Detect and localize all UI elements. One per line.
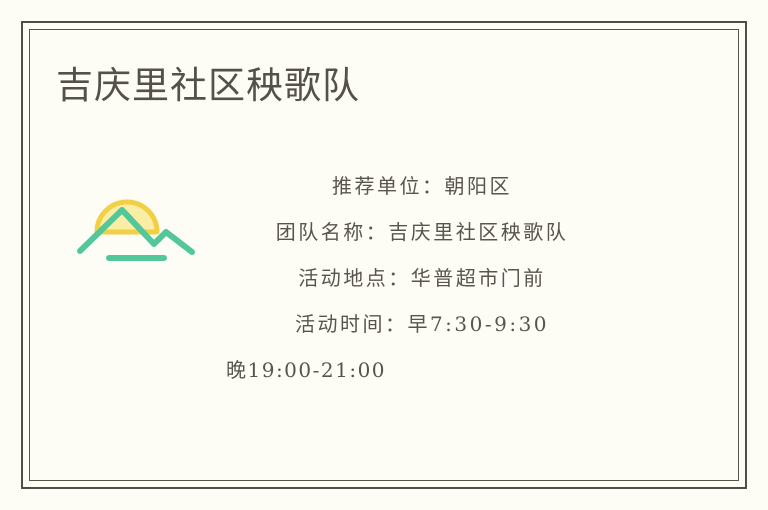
info-line-activity-time-morning: 活动时间：早7:30-9:30 bbox=[212, 301, 632, 347]
info-line-recommending-unit: 推荐单位：朝阳区 bbox=[212, 163, 632, 209]
page-title: 吉庆里社区秧歌队 bbox=[56, 62, 360, 110]
sunrise-mountain-icon bbox=[76, 182, 196, 264]
community-team-card: 吉庆里社区秧歌队 推荐单位：朝阳区 团队名称：吉庆里社区秧歌队 活动地点：华普超… bbox=[0, 0, 768, 510]
team-info-block: 推荐单位：朝阳区 团队名称：吉庆里社区秧歌队 活动地点：华普超市门前 活动时间：… bbox=[212, 163, 632, 393]
info-line-activity-location: 活动地点：华普超市门前 bbox=[212, 255, 632, 301]
info-line-activity-time-evening: 晚19:00-21:00 bbox=[212, 347, 632, 393]
info-line-team-name: 团队名称：吉庆里社区秧歌队 bbox=[212, 209, 632, 255]
